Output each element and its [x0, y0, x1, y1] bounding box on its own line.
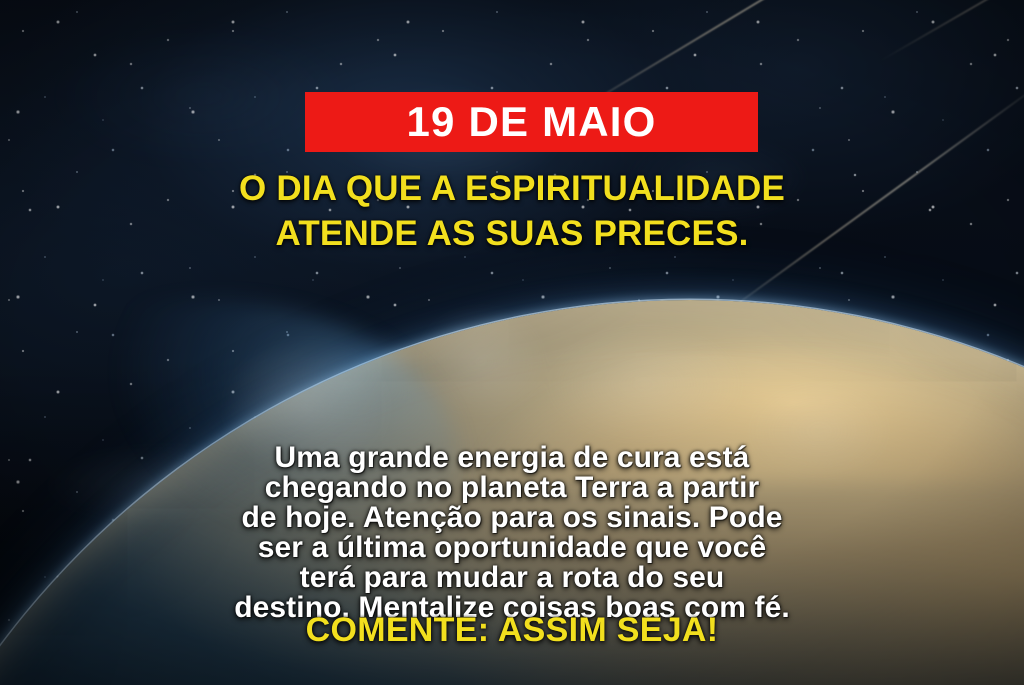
body-line-2: chegando no planeta Terra a partir: [62, 473, 962, 503]
headline-line-1: O DIA QUE A ESPIRITUALIDADE: [0, 166, 1024, 211]
headline-block: O DIA QUE A ESPIRITUALIDADE ATENDE AS SU…: [0, 166, 1024, 256]
poster-content: 19 DE MAIO O DIA QUE A ESPIRITUALIDADE A…: [0, 0, 1024, 685]
body-line-1: Uma grande energia de cura está: [62, 443, 962, 473]
headline-line-2: ATENDE AS SUAS PRECES.: [0, 211, 1024, 256]
body-copy-block: Uma grande energia de cura está chegando…: [62, 443, 962, 623]
call-to-action-text: COMENTE: ASSIM SEJA!: [0, 613, 1024, 647]
body-line-5: terá para mudar a rota do seu: [62, 563, 962, 593]
body-line-4: ser a última oportunidade que você: [62, 533, 962, 563]
date-banner: 19 DE MAIO: [305, 92, 758, 152]
date-banner-label: 19 DE MAIO: [406, 101, 656, 143]
poster-canvas: 19 DE MAIO O DIA QUE A ESPIRITUALIDADE A…: [0, 0, 1024, 685]
body-line-3: de hoje. Atenção para os sinais. Pode: [62, 503, 962, 533]
